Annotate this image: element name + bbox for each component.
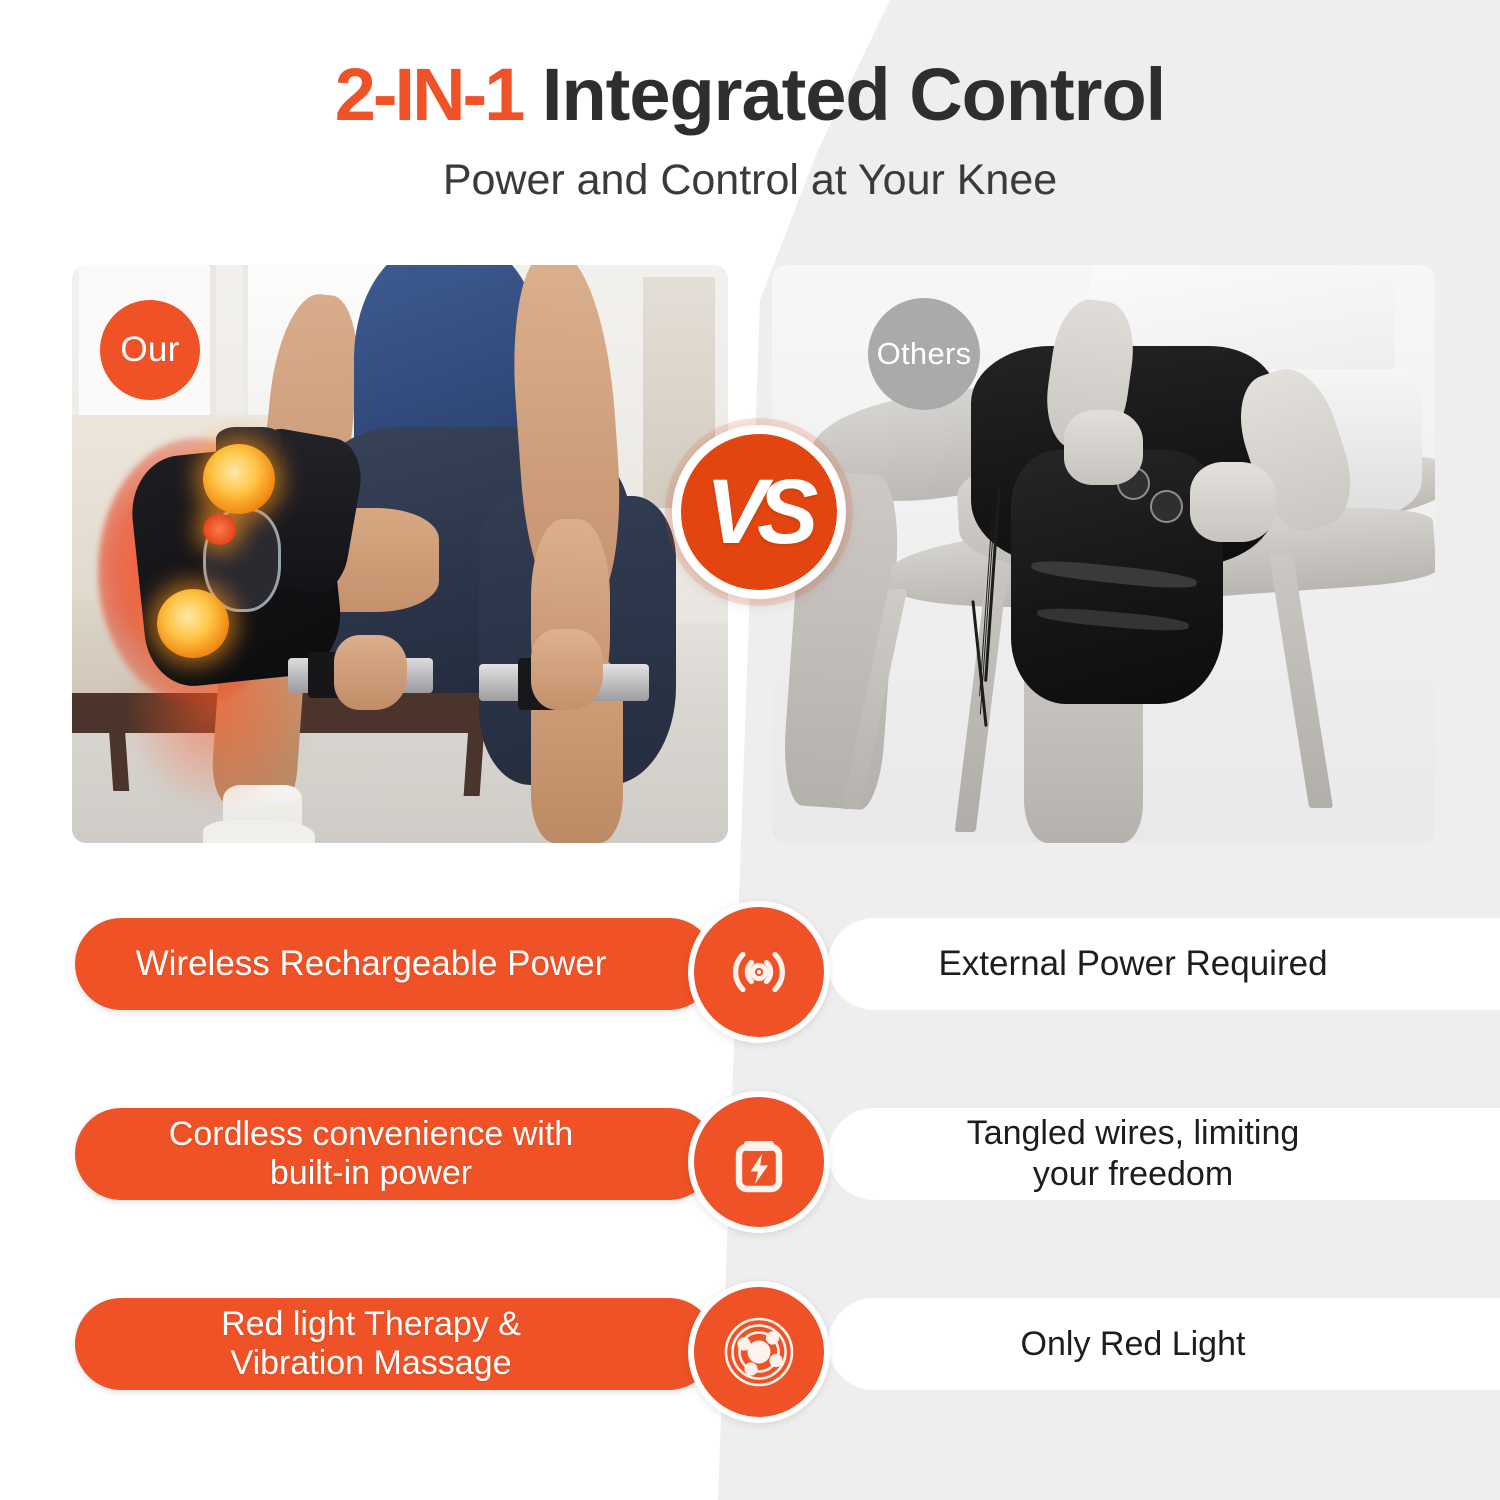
- comparison-row: Wireless Rechargeable Power External Pow…: [0, 900, 1500, 1090]
- page-title: 2-IN-1 Integrated Control: [0, 0, 1500, 134]
- infographic-page: 2-IN-1 Integrated Control Power and Cont…: [0, 0, 1500, 1500]
- our-feature-pill[interactable]: Wireless Rechargeable Power: [75, 918, 715, 1010]
- our-feature-line2: Vibration Massage: [231, 1344, 512, 1382]
- comparison-rows: Wireless Rechargeable Power External Pow…: [0, 900, 1500, 1470]
- our-feature-label: Red light Therapy & Vibration Massage: [199, 1305, 591, 1384]
- our-feature-pill[interactable]: Red light Therapy & Vibration Massage: [75, 1298, 715, 1390]
- our-badge-label: Our: [120, 330, 179, 370]
- battery-charging-icon: [688, 1091, 830, 1233]
- header: 2-IN-1 Integrated Control Power and Cont…: [0, 0, 1500, 205]
- sneaker: [203, 820, 315, 843]
- our-feature-line1: Cordless convenience with: [169, 1115, 573, 1153]
- hand-right-adjusting: [1190, 462, 1276, 543]
- competitor-feature-line1: Tangled wires, limiting: [967, 1114, 1300, 1152]
- heat-node-top: [203, 444, 275, 513]
- our-feature-line1: Red light Therapy &: [221, 1305, 521, 1343]
- heat-node-mid: [203, 514, 236, 546]
- title-rest: Integrated Control: [522, 53, 1165, 136]
- our-feature-line2: built-in power: [270, 1154, 472, 1192]
- our-feature-label: Wireless Rechargeable Power: [114, 944, 677, 985]
- wireless-signal-icon: [688, 901, 830, 1043]
- vs-badge: VS: [672, 425, 846, 599]
- comparison-row: Cordless convenience with built-in power…: [0, 1090, 1500, 1280]
- hand-right: [531, 629, 603, 710]
- competitor-feature-pill[interactable]: Tangled wires, limiting your freedom: [828, 1108, 1500, 1200]
- our-feature-label: Cordless convenience with built-in power: [147, 1115, 643, 1194]
- competitor-feature-pill[interactable]: Only Red Light: [828, 1298, 1500, 1390]
- vs-label: VS: [706, 466, 809, 558]
- page-subtitle: Power and Control at Your Knee: [0, 134, 1500, 205]
- hand-left-adjusting: [1064, 410, 1144, 485]
- comparison-row: Red light Therapy & Vibration Massage O: [0, 1280, 1500, 1470]
- competitor-feature-label: Only Red Light: [981, 1324, 1366, 1365]
- title-highlight: 2-IN-1: [335, 53, 523, 136]
- our-badge: Our: [100, 300, 200, 400]
- competitor-feature-label: Tangled wires, limiting your freedom: [927, 1113, 1420, 1195]
- competitor-feature-label: External Power Required: [898, 943, 1447, 985]
- heat-node-bottom: [157, 589, 229, 658]
- vibration-massage-icon: [688, 1281, 830, 1423]
- others-badge-label: Others: [877, 336, 972, 372]
- hand-left: [334, 635, 406, 710]
- competitor-feature-line2: your freedom: [1033, 1155, 1233, 1193]
- others-badge: Others: [868, 298, 980, 410]
- competitor-feature-pill[interactable]: External Power Required: [828, 918, 1500, 1010]
- our-feature-pill[interactable]: Cordless convenience with built-in power: [75, 1108, 715, 1200]
